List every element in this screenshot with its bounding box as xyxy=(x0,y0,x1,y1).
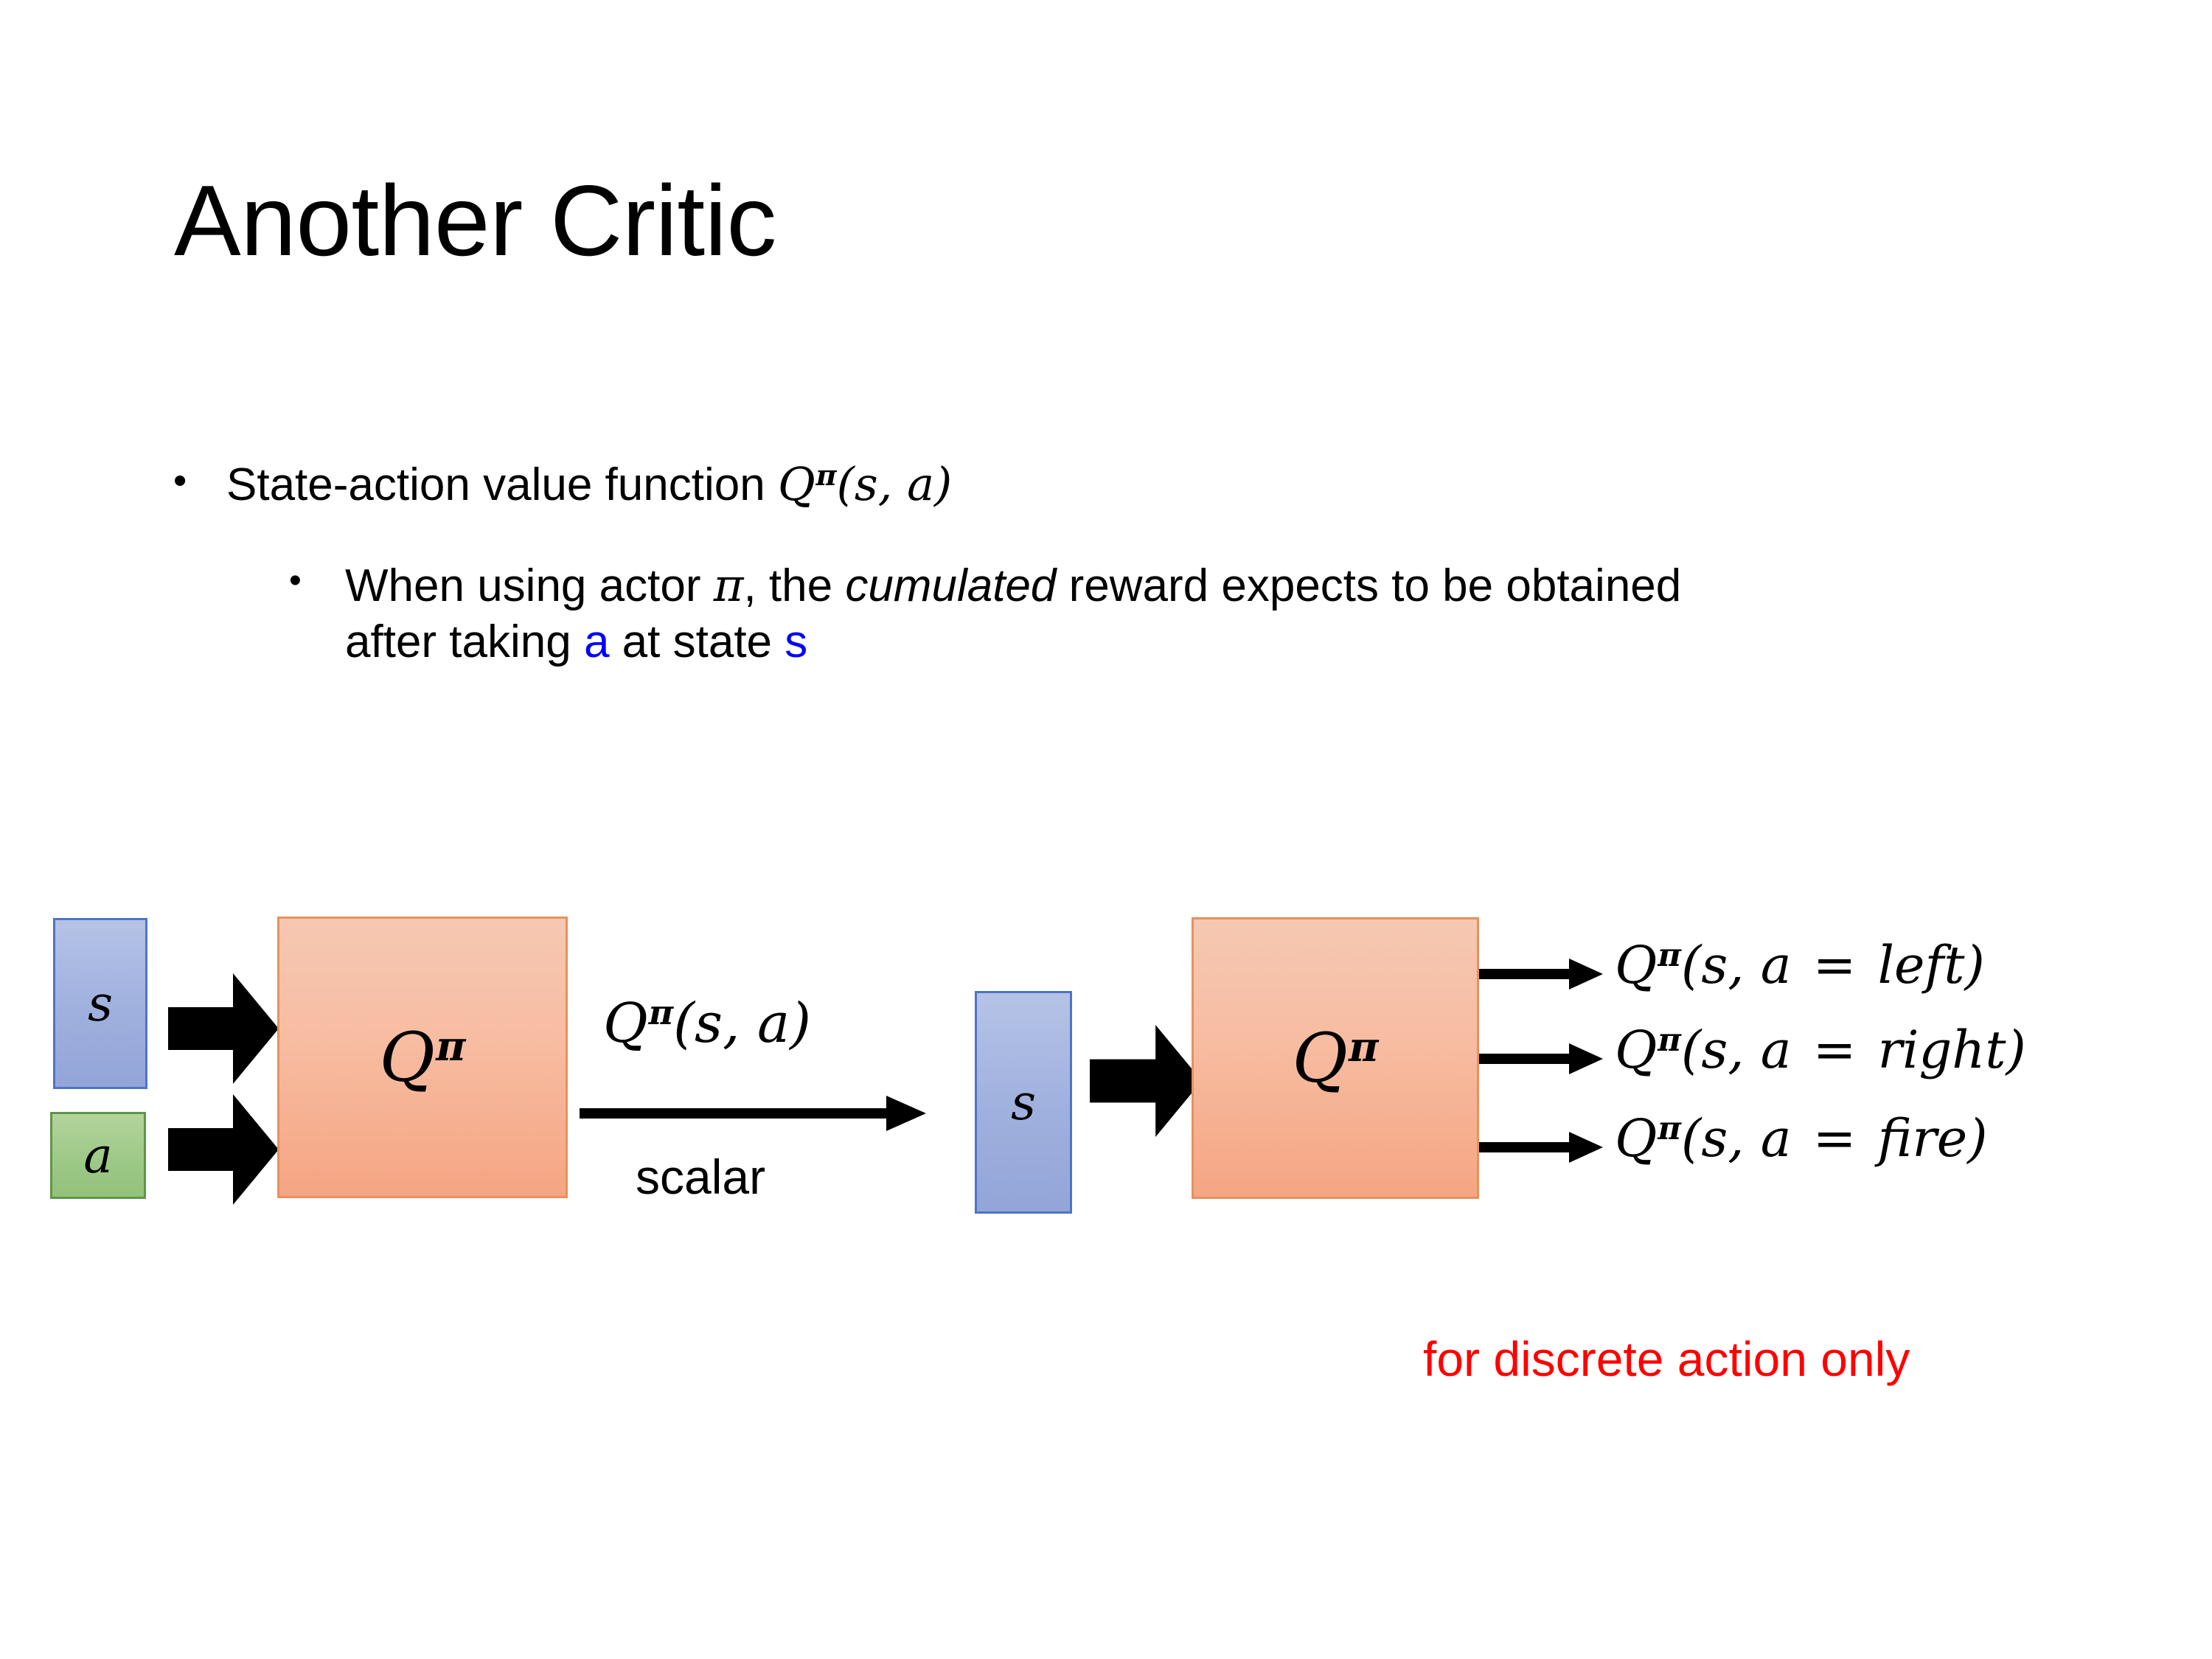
bullet2-seg1: When using actor xyxy=(345,560,714,611)
bullet-level2: • When using actor π, the cumulated rewa… xyxy=(289,557,1764,669)
bullet2-action-highlight: a xyxy=(584,616,609,667)
right-output-label-2: Qπ(s, a = right) xyxy=(1615,1020,2026,1080)
right-output-1-value: left) xyxy=(1861,935,1984,995)
right-network-base: Q xyxy=(1293,1019,1348,1098)
left-state-box: s xyxy=(53,918,147,1089)
bullet-level1-text: State-action value function Qπ(s, a) xyxy=(226,457,952,512)
bullet-marker-icon: • xyxy=(289,557,345,599)
right-output-2-operator: = xyxy=(1808,1020,1862,1080)
right-output-label-3: Qπ(s, a = fire) xyxy=(1615,1108,1988,1169)
discrete-action-note: for discrete action only xyxy=(1423,1331,1910,1387)
right-output-2-base: Q xyxy=(1615,1020,1657,1080)
right-output-label-1: Qπ(s, a = left) xyxy=(1615,935,1985,995)
right-state-label: s xyxy=(1011,1074,1036,1131)
left-output-arrow-icon xyxy=(580,1091,926,1135)
right-state-box: s xyxy=(975,991,1072,1214)
right-network-superscript: π xyxy=(1349,1023,1378,1071)
right-output-arrow-3-icon xyxy=(1479,1127,1603,1168)
bullet-marker-icon: • xyxy=(173,457,226,500)
bullet1-math-args: (s, a) xyxy=(837,457,953,511)
left-state-block-arrow-icon xyxy=(168,973,279,1084)
left-output-sublabel: scalar xyxy=(636,1149,765,1205)
left-network-label: Qπ xyxy=(380,1018,466,1097)
left-output-math-label: Qπ(s, a) xyxy=(603,992,811,1055)
bullet1-lead: State-action value function xyxy=(226,459,778,510)
right-output-3-superscript: π xyxy=(1658,1110,1681,1147)
left-output-base: Q xyxy=(603,992,648,1055)
slide-canvas: Another Critic • State-action value func… xyxy=(0,0,2212,1659)
left-action-box: a xyxy=(50,1112,146,1199)
right-output-2-value: right) xyxy=(1861,1020,2025,1080)
left-output-args: (s, a) xyxy=(673,992,811,1055)
right-output-2-superscript: π xyxy=(1658,1021,1681,1059)
right-network-label: Qπ xyxy=(1293,1019,1379,1098)
bullet2-state-highlight: s xyxy=(785,616,807,667)
right-output-1-operator: = xyxy=(1808,935,1862,995)
right-output-1-superscript: π xyxy=(1658,936,1681,974)
bullet2-seg4: at state xyxy=(609,616,785,667)
page-title: Another Critic xyxy=(174,168,776,274)
left-output-superscript: π xyxy=(649,992,674,1032)
right-output-3-operator: = xyxy=(1808,1108,1862,1169)
left-action-block-arrow-icon xyxy=(168,1094,279,1205)
right-output-3-value: fire) xyxy=(1861,1108,1987,1169)
bullet-level1: • State-action value function Qπ(s, a) xyxy=(173,457,952,512)
right-output-2-open: (s, a xyxy=(1681,1020,1808,1080)
right-output-3-base: Q xyxy=(1615,1108,1657,1169)
bullet1-math-superscript: π xyxy=(816,459,837,493)
right-output-1-open: (s, a xyxy=(1681,935,1808,995)
left-network-base: Q xyxy=(380,1018,435,1097)
bullet2-seg2: , the xyxy=(743,560,845,611)
right-output-arrow-2-icon xyxy=(1479,1038,1603,1079)
left-state-label: s xyxy=(88,975,113,1032)
right-output-1-base: Q xyxy=(1615,935,1657,995)
right-output-arrow-1-icon xyxy=(1479,953,1603,995)
right-output-3-open: (s, a xyxy=(1681,1108,1808,1169)
right-network-box: Qπ xyxy=(1192,917,1479,1199)
bullet2-pi-symbol: π xyxy=(714,558,744,612)
left-network-superscript: π xyxy=(436,1023,465,1071)
bullet2-emphasis: cumulated xyxy=(845,560,1056,611)
right-state-block-arrow-icon xyxy=(1090,1025,1202,1137)
left-action-label: a xyxy=(83,1127,112,1184)
bullet1-math-base: Q xyxy=(778,457,815,511)
bullet-level2-text: When using actor π, the cumulated reward… xyxy=(345,557,1731,669)
left-network-box: Qπ xyxy=(277,917,568,1198)
